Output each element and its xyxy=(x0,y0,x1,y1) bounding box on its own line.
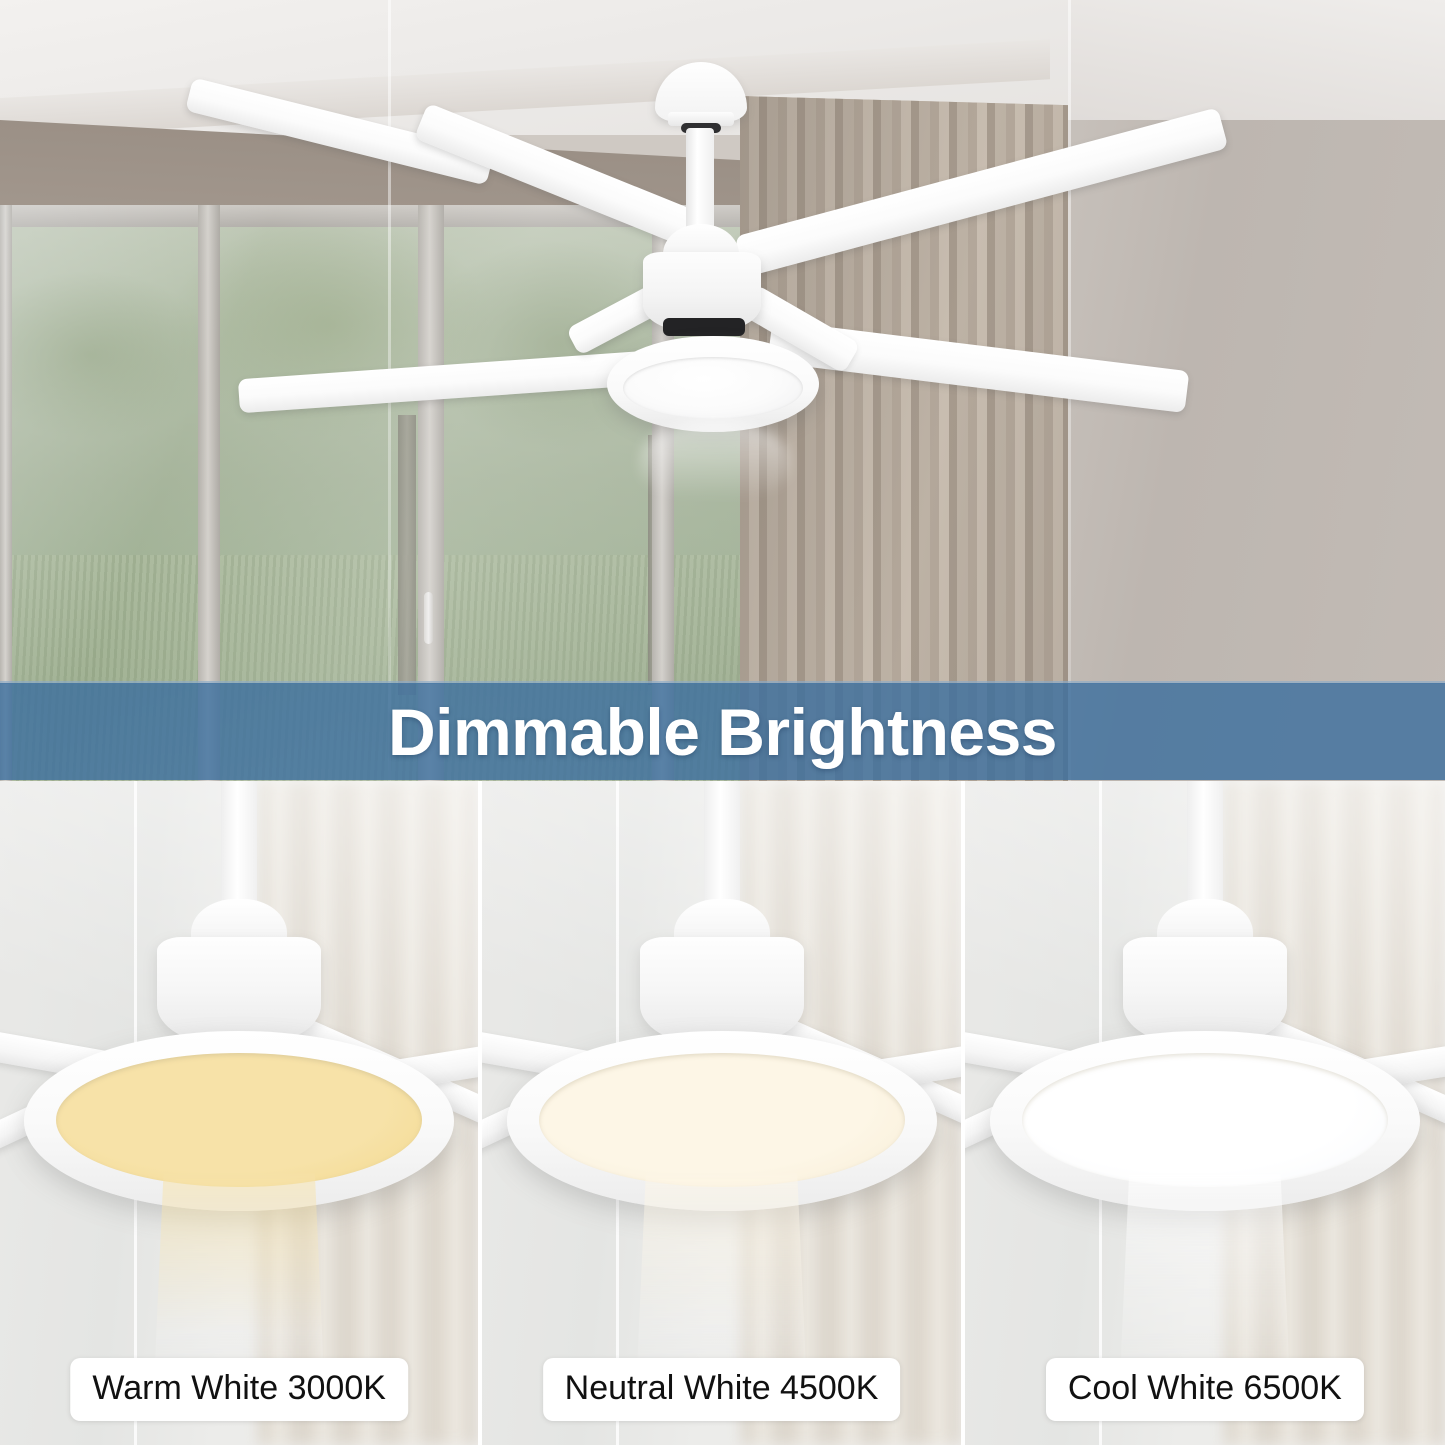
panel-label-neutral-white: Neutral White 4500K xyxy=(543,1358,901,1421)
fan-light-lens xyxy=(623,357,803,419)
fan-motor-housing xyxy=(1123,937,1287,1045)
fan-light-glow xyxy=(640,420,790,500)
fan-motor-housing xyxy=(157,937,321,1045)
feature-banner: Dimmable Brightness xyxy=(0,683,1445,780)
fan-downrod xyxy=(1187,781,1223,905)
color-temperature-panels: Warm White 3000K Neutral White 4500K xyxy=(0,781,1445,1445)
panel-neutral-white[interactable]: Neutral White 4500K xyxy=(482,781,960,1445)
fan-downrod xyxy=(704,781,740,905)
panel-warm-white[interactable]: Warm White 3000K xyxy=(0,781,478,1445)
panel-label-cool-white: Cool White 6500K xyxy=(1046,1358,1364,1421)
panel-cool-white[interactable]: Cool White 6500K xyxy=(965,781,1445,1445)
fan-blade xyxy=(238,350,659,413)
fan-light-lens-neutral xyxy=(539,1053,905,1187)
fan-blade xyxy=(735,107,1229,277)
fan-light-lens-cool xyxy=(1022,1053,1388,1187)
fan-downrod xyxy=(221,781,257,905)
fan-downrod xyxy=(686,128,714,233)
ceiling-fan xyxy=(0,0,1445,781)
fan-motor-housing xyxy=(640,937,804,1045)
brightness-dimmer-slider[interactable]: 10% 100% xyxy=(0,500,1445,645)
fan-motor-collar xyxy=(663,318,745,336)
hero-room-scene: 10% 100% xyxy=(0,0,1445,781)
banner-title: Dimmable Brightness xyxy=(388,694,1057,770)
fan-light-lens-warm xyxy=(56,1053,422,1187)
product-feature-image: 10% 100% Dimmable Brightness Warm xyxy=(0,0,1445,1445)
panel-label-warm-white: Warm White 3000K xyxy=(70,1358,408,1421)
